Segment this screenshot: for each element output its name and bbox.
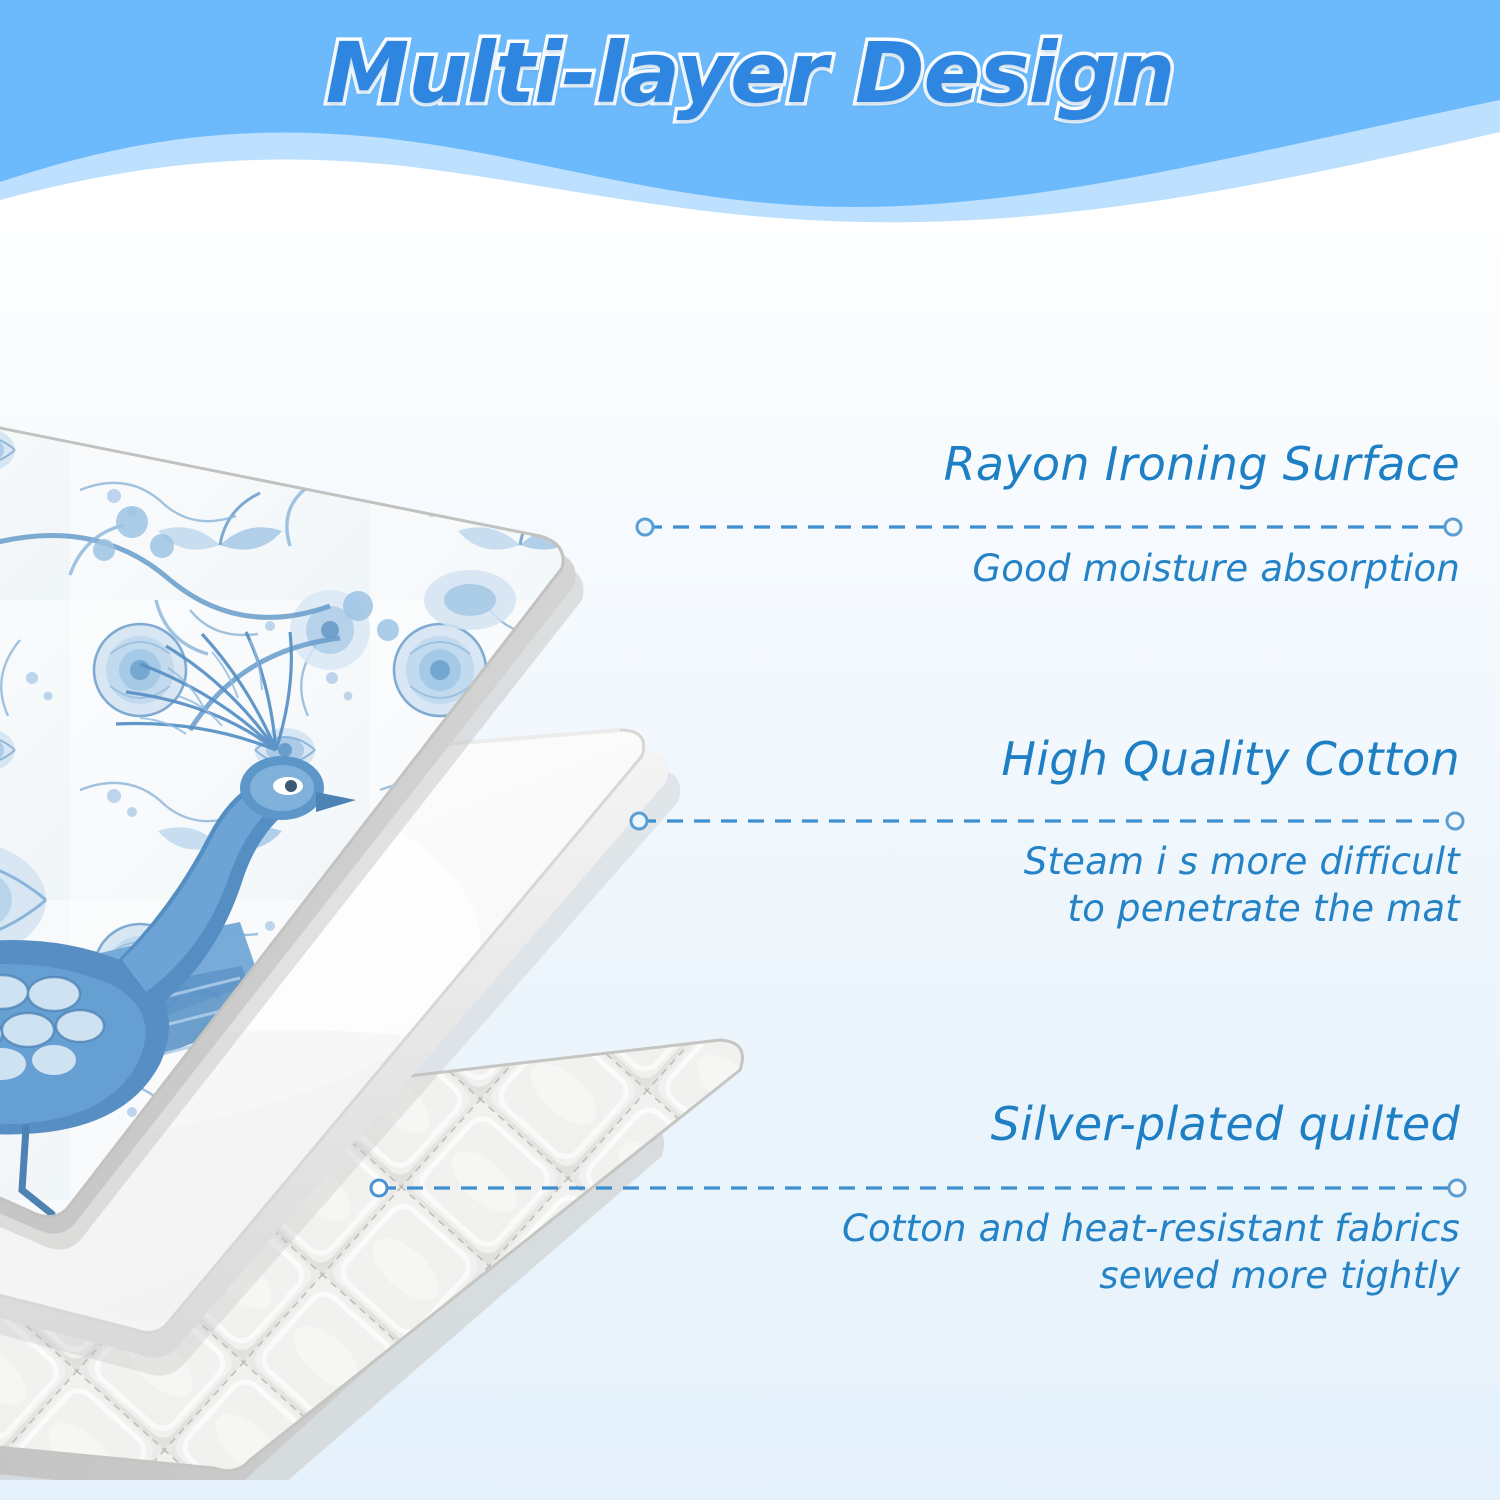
leader-line-cotton [630,810,1466,832]
callout-rayon-subtitle: Good moisture absorption [600,545,1460,592]
callout-rayon-subtitle-line-1: Good moisture absorption [600,545,1460,592]
callout-cotton-title: High Quality Cotton [600,735,1460,783]
callout-rayon-sub-wrap: Good moisture absorption [600,545,1460,592]
callout-cotton-subtitle: Steam i s more difficult to penetrate th… [600,838,1460,933]
infographic-page: Multi-layer Design [0,0,1500,1500]
callout-silver-subtitle-line-2: sewed more tightly [520,1252,1460,1299]
callout-silver-title: Silver-plated quilted [560,1100,1460,1148]
callout-cotton: High Quality Cotton [600,735,1460,783]
callout-cotton-sub-wrap: Steam i s more difficult to penetrate th… [600,838,1460,933]
callout-cotton-subtitle-line-1: Steam i s more difficult [600,838,1460,885]
header-banner: Multi-layer Design [0,0,1500,230]
callout-silver-subtitle-line-1: Cotton and heat-resistant fabrics [520,1205,1460,1252]
callout-rayon-title: Rayon Ironing Surface [600,440,1460,488]
callout-rayon: Rayon Ironing Surface [600,440,1460,488]
callout-cotton-subtitle-line-2: to penetrate the mat [600,885,1460,932]
leader-line-silver [370,1177,1468,1199]
callout-silver-sub-wrap: Cotton and heat-resistant fabrics sewed … [520,1205,1460,1300]
callout-silver: Silver-plated quilted [560,1100,1460,1148]
page-title: Multi-layer Design [0,24,1500,122]
callout-silver-subtitle: Cotton and heat-resistant fabrics sewed … [520,1205,1460,1300]
leader-line-rayon [636,516,1464,538]
